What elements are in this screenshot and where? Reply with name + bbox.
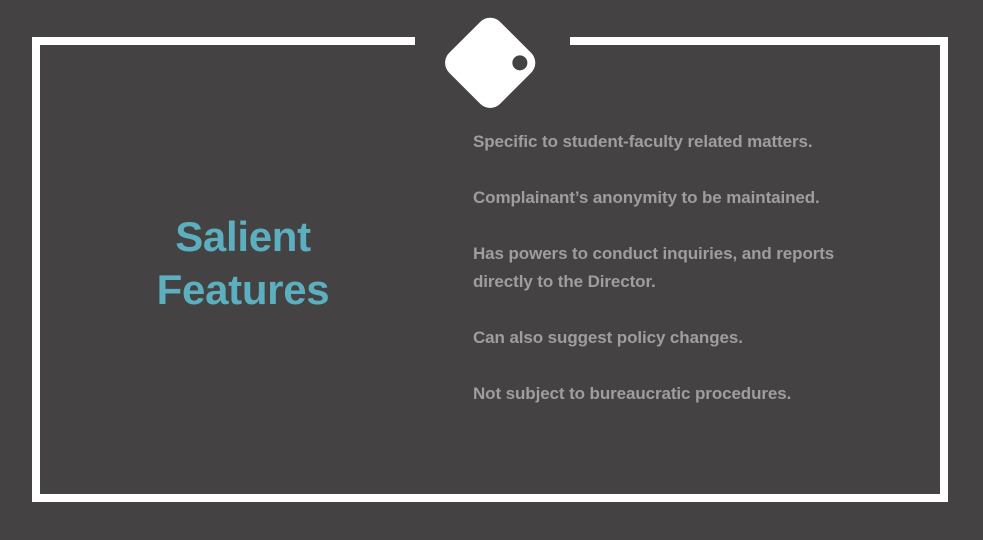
- slide-content: Salient Features Specific to student-fac…: [40, 45, 940, 494]
- list-item: Has powers to conduct inquiries, and rep…: [473, 240, 893, 296]
- list-item: Not subject to bureaucratic procedures.: [473, 380, 893, 408]
- list-item: Complainant’s anonymity to be maintained…: [473, 184, 893, 212]
- list-item: Can also suggest policy changes.: [473, 324, 893, 352]
- page-title: Salient Features: [40, 210, 460, 316]
- frame-border-top-left: [32, 37, 415, 45]
- bullet-list: Specific to student-faculty related matt…: [460, 45, 940, 408]
- title-line-1: Salient: [40, 210, 446, 263]
- title-line-2: Features: [40, 263, 446, 316]
- list-item: Specific to student-faculty related matt…: [473, 128, 893, 156]
- frame-border-left: [32, 37, 40, 502]
- title-column: Salient Features: [40, 45, 460, 316]
- frame-border-bottom: [32, 494, 948, 502]
- slide-canvas: Salient Features Specific to student-fac…: [0, 0, 983, 540]
- frame-border-top-right: [570, 37, 948, 45]
- frame-border-right: [940, 37, 948, 502]
